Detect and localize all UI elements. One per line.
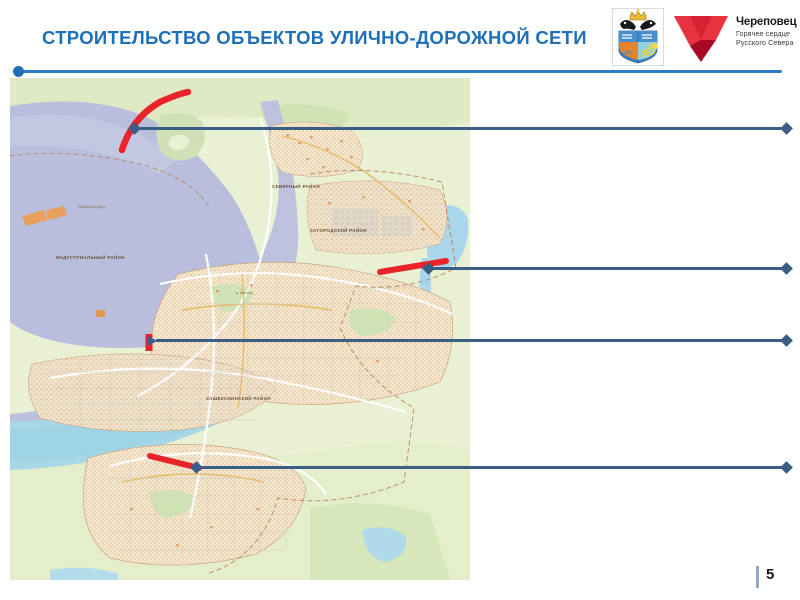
callout-3-leader-line bbox=[156, 339, 788, 342]
callout-1-end-marker bbox=[780, 122, 793, 135]
callout-2-leader-line bbox=[428, 267, 788, 270]
brand-text: Череповец Горячее сердце Русского Севера bbox=[736, 16, 800, 47]
header-divider bbox=[18, 70, 782, 73]
header-divider-dot bbox=[13, 66, 24, 77]
brand-tagline-line1: Горячее сердце bbox=[736, 29, 800, 38]
map-label-zagorodsky: ЗАГОРОДСКИЙ РАЙОН bbox=[310, 228, 367, 233]
map-label-zasheksninsky: ЗАШЕКСНИНСКИЙ РАЙОН bbox=[206, 396, 271, 401]
red-heart-logo-icon bbox=[670, 10, 732, 66]
page-number-divider bbox=[756, 566, 759, 588]
map-label-river: р. Шексна bbox=[236, 291, 253, 295]
brand-tagline-line2: Русского Севера bbox=[736, 38, 800, 47]
map-label-reservoir: Рыбинское вдхр. bbox=[78, 205, 106, 209]
brand-logo-block: Череповец Горячее сердце Русского Севера bbox=[608, 6, 798, 66]
page-title: СТРОИТЕЛЬСТВО ОБЪЕКТОВ УЛИЧНО-ДОРОЖНОЙ С… bbox=[42, 27, 587, 49]
brand-name: Череповец bbox=[736, 16, 800, 29]
callout-3-end-marker bbox=[780, 334, 793, 347]
callout-4-end-marker bbox=[780, 461, 793, 474]
slide-header: СТРОИТЕЛЬСТВО ОБЪЕКТОВ УЛИЧНО-ДОРОЖНОЙ С… bbox=[0, 0, 800, 72]
cherepovets-coat-of-arms-icon bbox=[612, 8, 664, 66]
map-label-industrial: ИНДУСТРИАЛЬНЫЙ РАЙОН bbox=[56, 255, 125, 260]
callout-3-arrow-icon bbox=[148, 336, 157, 346]
callout-4-leader-line bbox=[196, 466, 788, 469]
map-label-severny: СЕВЕРНЫЙ РАЙОН bbox=[272, 184, 320, 189]
callout-1-leader-line bbox=[133, 127, 788, 130]
map-canvas: ИНДУСТРИАЛЬНЫЙ РАЙОН СЕВЕРНЫЙ РАЙОН ЗАГО… bbox=[10, 78, 470, 580]
page-number: 5 bbox=[766, 566, 774, 583]
callout-2-end-marker bbox=[780, 262, 793, 275]
city-map[interactable]: ИНДУСТРИАЛЬНЫЙ РАЙОН СЕВЕРНЫЙ РАЙОН ЗАГО… bbox=[10, 78, 470, 580]
